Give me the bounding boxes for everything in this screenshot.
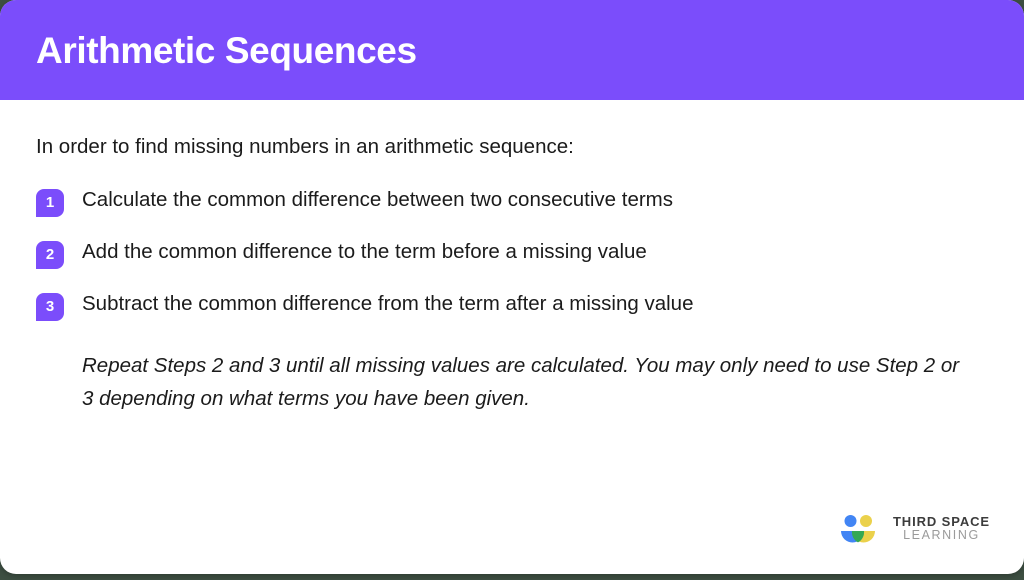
list-item: 1 Calculate the common difference betwee… xyxy=(36,187,988,217)
step-text: Calculate the common difference between … xyxy=(82,187,673,214)
list-item: 3 Subtract the common difference from th… xyxy=(36,291,988,321)
card-body: In order to find missing numbers in an a… xyxy=(0,100,1024,415)
brand-name-secondary: LEARNING xyxy=(893,529,990,543)
lesson-card: Arithmetic Sequences In order to find mi… xyxy=(0,0,1024,574)
brand-name-primary: THIRD SPACE xyxy=(893,515,990,529)
note-text: Repeat Steps 2 and 3 until all missing v… xyxy=(82,349,962,415)
intro-text: In order to find missing numbers in an a… xyxy=(36,134,988,161)
step-number-badge: 2 xyxy=(36,241,64,269)
card-header: Arithmetic Sequences xyxy=(0,0,1024,100)
steps-list: 1 Calculate the common difference betwee… xyxy=(36,187,988,321)
third-space-learning-people-icon xyxy=(835,514,881,544)
step-text: Add the common difference to the term be… xyxy=(82,239,647,266)
step-number-badge: 1 xyxy=(36,189,64,217)
list-item: 2 Add the common difference to the term … xyxy=(36,239,988,269)
brand-logo: THIRD SPACE LEARNING xyxy=(835,514,990,544)
step-text: Subtract the common difference from the … xyxy=(82,291,693,318)
page-title: Arithmetic Sequences xyxy=(36,32,417,69)
step-number-badge: 3 xyxy=(36,293,64,321)
brand-logo-text: THIRD SPACE LEARNING xyxy=(893,515,990,543)
